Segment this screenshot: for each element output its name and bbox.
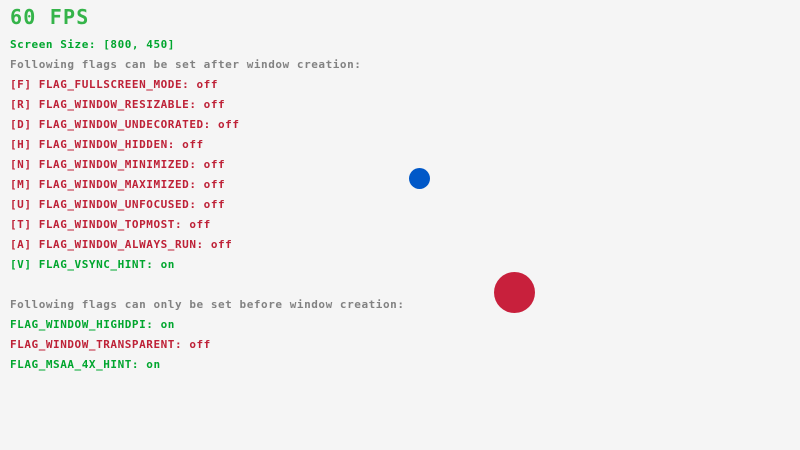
flag-row-window-undecorated[interactable]: [D] FLAG_WINDOW_UNDECORATED: off	[10, 119, 240, 131]
flag-row-window-hidden[interactable]: [H] FLAG_WINDOW_HIDDEN: off	[10, 139, 204, 151]
flag-row-window-always-run[interactable]: [A] FLAG_WINDOW_ALWAYS_RUN: off	[10, 239, 232, 251]
flag-row-window-topmost[interactable]: [T] FLAG_WINDOW_TOPMOST: off	[10, 219, 211, 231]
runtime-flags-heading: Following flags can be set after window …	[10, 59, 361, 71]
flag-row-window-transparent: FLAG_WINDOW_TRANSPARENT: off	[10, 339, 211, 351]
screen-size-label: Screen Size: [800, 450]	[10, 39, 175, 51]
red-ball-shape	[494, 272, 535, 313]
flag-row-window-minimized[interactable]: [N] FLAG_WINDOW_MINIMIZED: off	[10, 159, 225, 171]
fps-counter: 60 FPS	[10, 6, 89, 28]
flag-row-window-resizable[interactable]: [R] FLAG_WINDOW_RESIZABLE: off	[10, 99, 225, 111]
flag-row-window-maximized[interactable]: [M] FLAG_WINDOW_MAXIMIZED: off	[10, 179, 225, 191]
blue-ball-shape	[409, 168, 430, 189]
flag-row-window-highdpi: FLAG_WINDOW_HIGHDPI: on	[10, 319, 175, 331]
flag-row-fullscreen-mode[interactable]: [F] FLAG_FULLSCREEN_MODE: off	[10, 79, 218, 91]
flag-row-vsync-hint[interactable]: [V] FLAG_VSYNC_HINT: on	[10, 259, 175, 271]
flag-row-window-unfocused[interactable]: [U] FLAG_WINDOW_UNFOCUSED: off	[10, 199, 225, 211]
flag-row-msaa-4x-hint: FLAG_MSAA_4X_HINT: on	[10, 359, 161, 371]
creation-flags-heading: Following flags can only be set before w…	[10, 299, 405, 311]
raylib-window-canvas[interactable]: 60 FPS Screen Size: [800, 450] Following…	[0, 0, 800, 450]
